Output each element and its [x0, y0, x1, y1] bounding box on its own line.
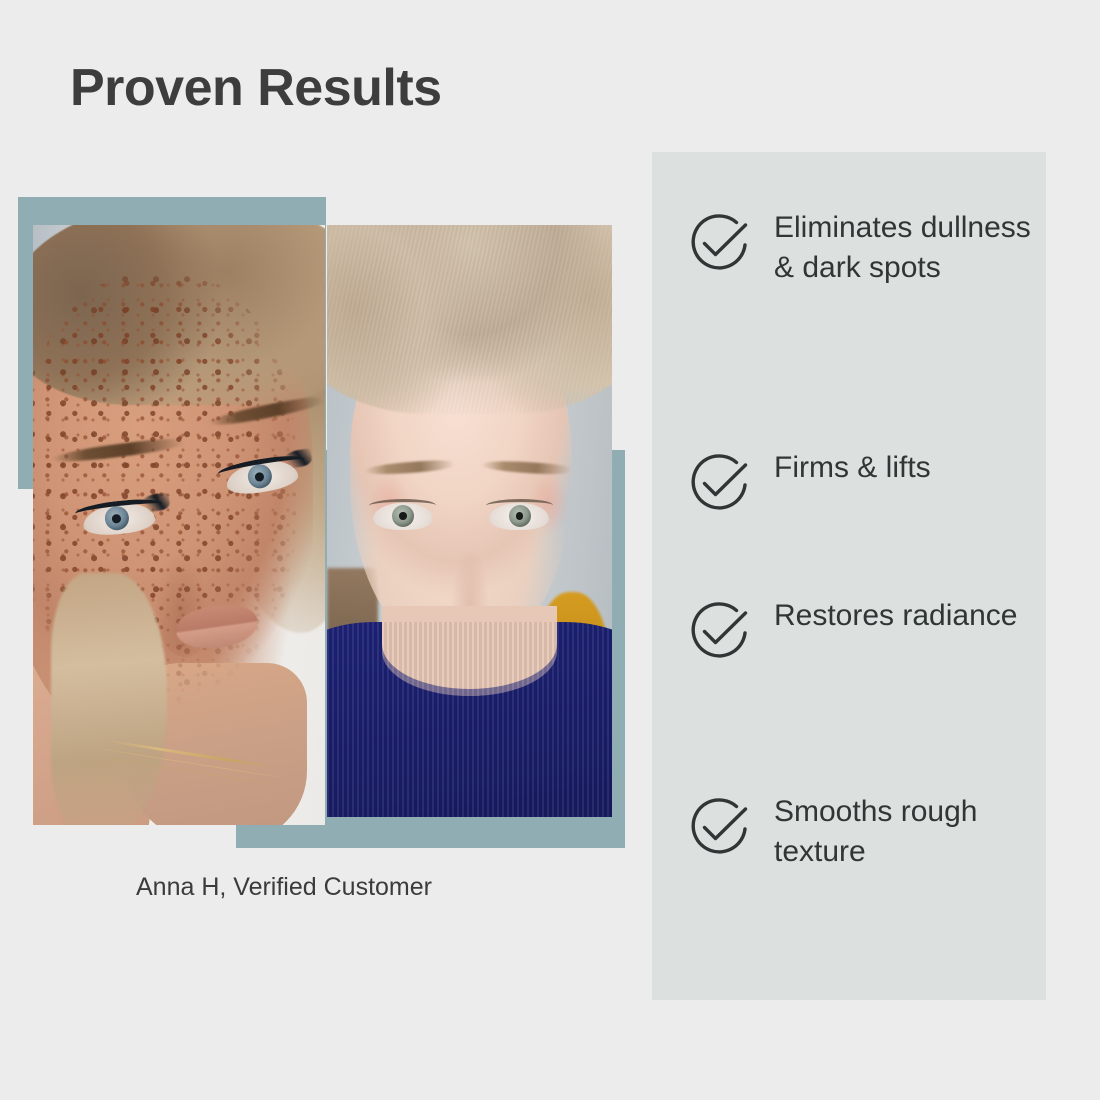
check-circle-icon [686, 600, 752, 666]
benefit-item-eliminates-dullness: Eliminates dullness & dark spots [686, 208, 1046, 288]
after-eye-right [489, 503, 549, 530]
check-circle-icon [686, 452, 752, 518]
benefit-item-smooths-texture: Smooths rough texture [686, 792, 1046, 872]
after-photo [327, 225, 612, 817]
before-after-composite: Anna H, Verified Customer [0, 0, 650, 1100]
before-hair-strand [51, 573, 168, 825]
after-hair [327, 225, 612, 414]
testimonial-caption: Anna H, Verified Customer [136, 873, 432, 902]
after-eye-right-lid [486, 499, 553, 512]
benefit-item-restores-radiance: Restores radiance [686, 596, 1017, 666]
after-eye-left [373, 503, 433, 530]
benefit-label: Firms & lifts [774, 448, 931, 488]
benefit-item-firms-lifts: Firms & lifts [686, 448, 931, 518]
after-navy-sweater [327, 622, 612, 817]
check-circle-icon [686, 796, 752, 862]
after-eye-left-lid [369, 499, 436, 512]
benefits-panel: Eliminates dullness & dark spots Firms &… [652, 152, 1046, 1000]
benefit-label: Smooths rough texture [774, 792, 1046, 872]
before-photo [33, 225, 325, 825]
benefit-label: Restores radiance [774, 596, 1017, 636]
check-circle-icon [686, 212, 752, 278]
benefit-label: Eliminates dullness & dark spots [774, 208, 1046, 288]
